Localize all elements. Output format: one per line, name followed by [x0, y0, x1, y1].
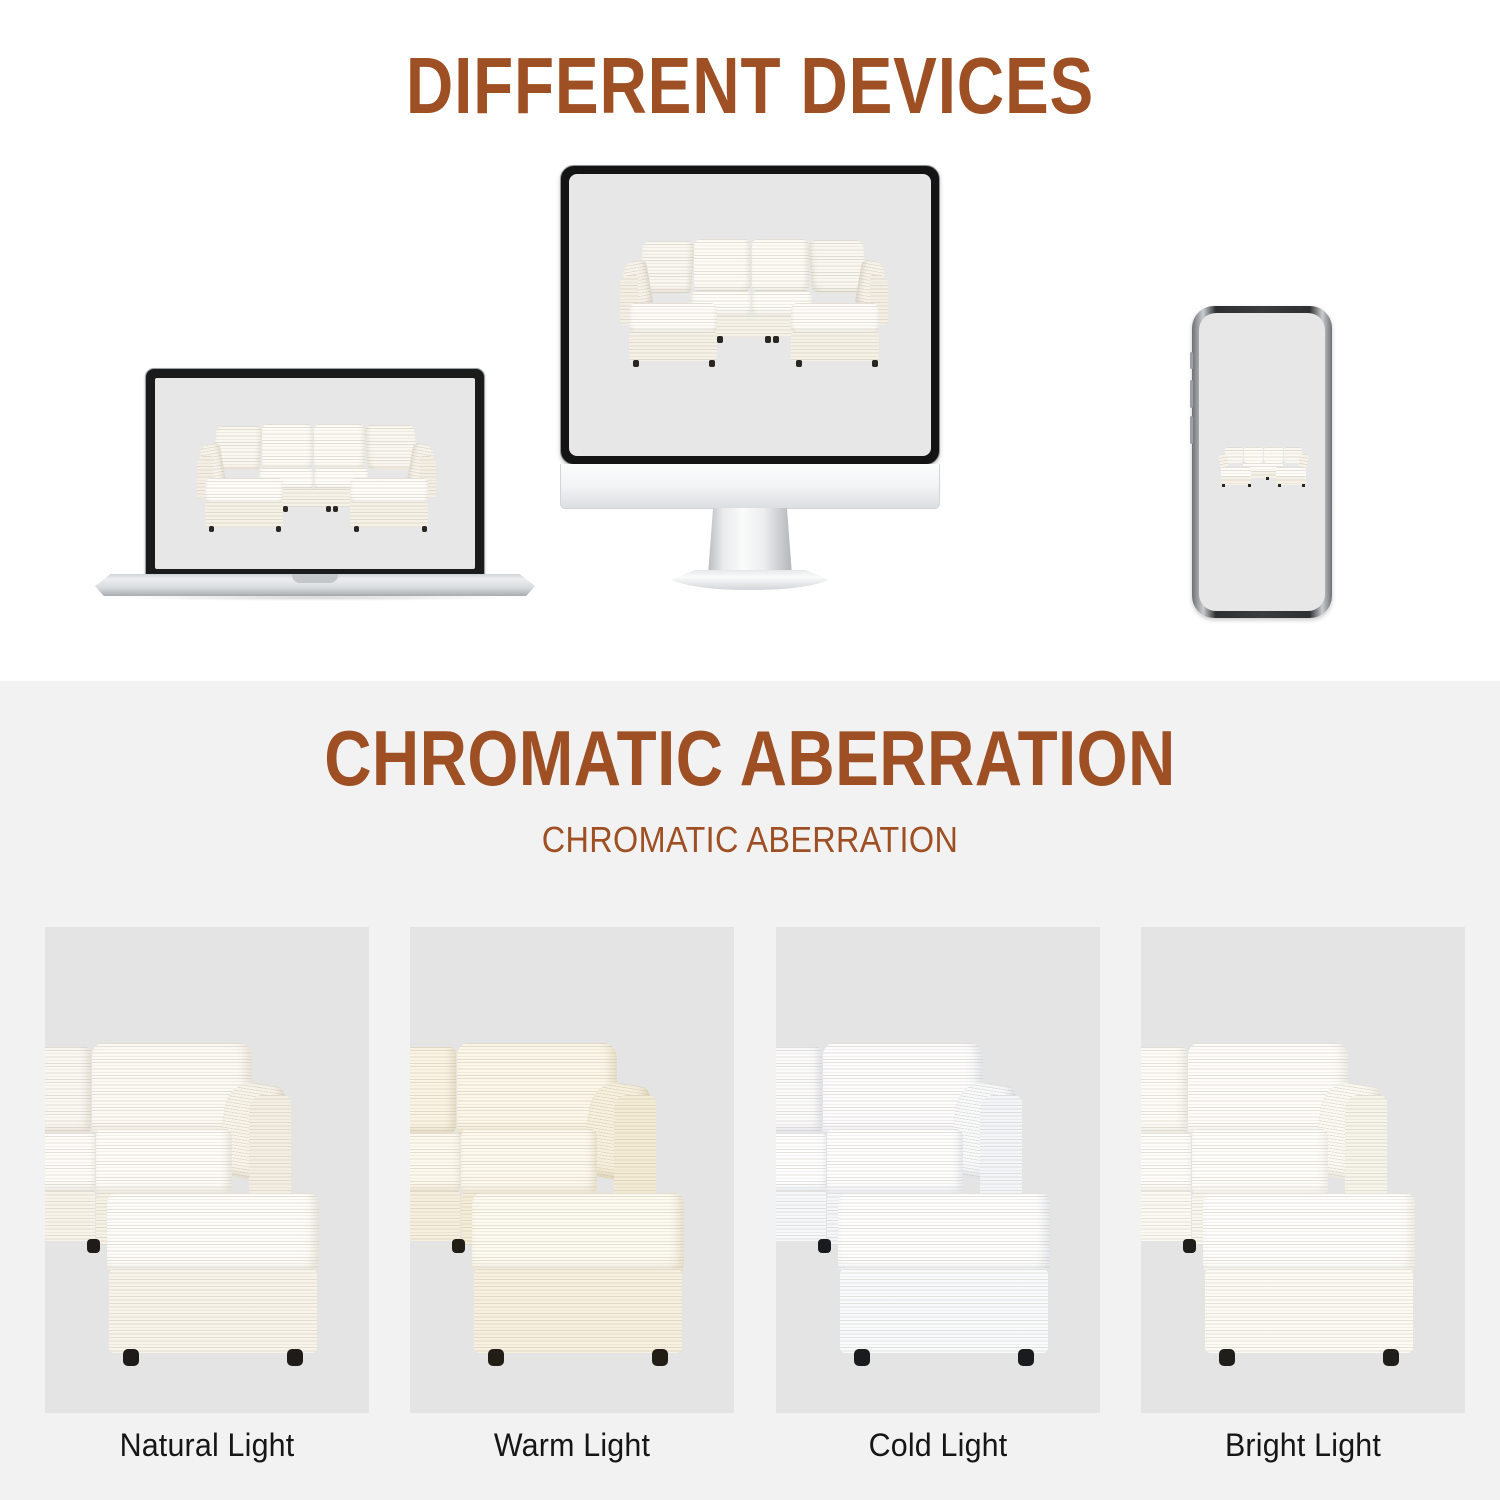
sofa-photo-natural [45, 927, 369, 1413]
phone-frame [1192, 306, 1332, 618]
sofa-photo-warm [410, 927, 734, 1413]
different-devices-section: DIFFERENT DEVICES [0, 0, 1500, 681]
light-condition-panel-row: Natural Light [45, 927, 1465, 1413]
sofa-illustration [601, 234, 903, 384]
laptop-hinge-notch [292, 574, 338, 583]
light-panel-label: Cold Light [784, 1427, 1092, 1463]
laptop-shadow [125, 594, 505, 601]
chromatic-aberration-section: CHROMATIC ABERRATION CHROMATIC ABERRATIO… [0, 681, 1500, 1500]
laptop-screen [155, 378, 475, 569]
light-panel-natural[interactable]: Natural Light [45, 927, 369, 1413]
chromatic-aberration-title: CHROMATIC ABERRATION [120, 717, 1380, 799]
monitor-device [560, 165, 940, 625]
monitor-stand-base [664, 570, 836, 590]
light-panel-label: Bright Light [1149, 1427, 1457, 1463]
sofa-illustration [179, 420, 453, 542]
light-panel-warm[interactable]: Warm Light [410, 927, 734, 1413]
monitor-screen [569, 174, 931, 456]
phone-volume-up-button[interactable] [1190, 380, 1193, 408]
monitor-bezel [560, 165, 940, 465]
light-panel-bright[interactable]: Bright Light [1141, 927, 1465, 1413]
sofa-illustration [1211, 445, 1315, 491]
monitor-stand-neck [708, 508, 792, 575]
phone-screen [1199, 313, 1325, 611]
laptop-lid [145, 368, 485, 580]
phone-device [1192, 306, 1332, 618]
sofa-photo-cold [776, 927, 1100, 1413]
light-panel-label: Natural Light [53, 1427, 361, 1463]
light-panel-cold[interactable]: Cold Light [776, 927, 1100, 1413]
light-panel-label: Warm Light [418, 1427, 726, 1463]
laptop-device [95, 368, 535, 618]
sofa-photo-bright [1141, 927, 1465, 1413]
phone-volume-down-button[interactable] [1190, 416, 1193, 444]
monitor-chin [560, 464, 940, 509]
different-devices-title: DIFFERENT DEVICES [135, 44, 1365, 128]
chromatic-aberration-subtitle: CHROMATIC ABERRATION [75, 820, 1425, 860]
phone-mute-button[interactable] [1190, 352, 1193, 369]
